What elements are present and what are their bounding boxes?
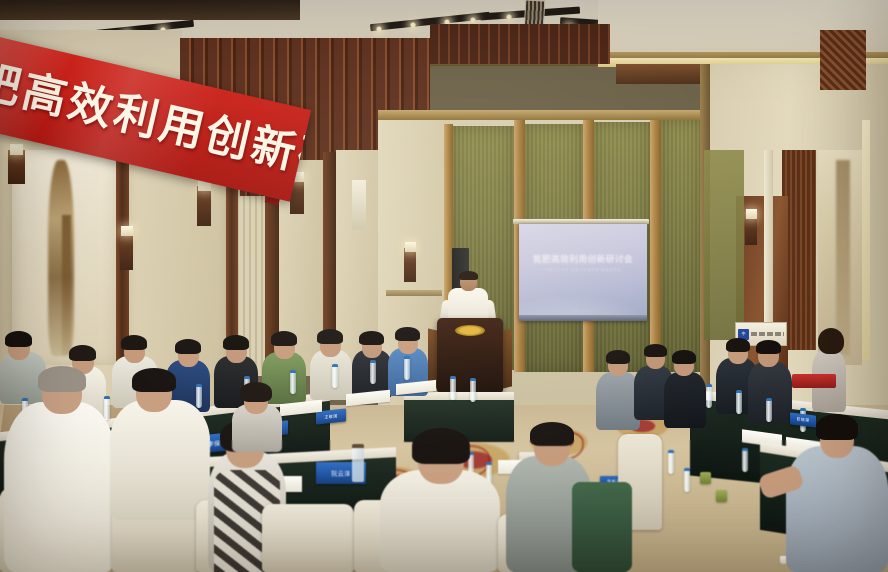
attendee-hair [395, 327, 420, 341]
attendee-bag [572, 482, 632, 572]
screen-footer: 2017 年 8 月 [519, 308, 647, 313]
wall-sconce-lamp [121, 226, 133, 236]
screen-title: 氮肥高效利用创新研讨会 [519, 253, 647, 265]
wall-sign-logo-text: 中 [742, 331, 746, 337]
projection-screen: 氮肥高效利用创新研讨会 中国农业大学 资源与环境学院 植物营养系 2017 年 … [519, 224, 647, 321]
nameplate-text: 巨晓棠 [796, 416, 809, 424]
water-bottle [450, 376, 456, 400]
water-bottle [332, 364, 338, 388]
attendee-hair-foreground [530, 422, 574, 446]
attendee-hair-foreground [412, 428, 470, 464]
attendee-hair [271, 331, 297, 346]
screen-subtitle: 中国农业大学 资源与环境学院 植物营养系 [519, 268, 647, 273]
attendee-hair [175, 339, 201, 354]
olive-fabric-panel [661, 120, 703, 372]
attendee-hair [121, 335, 147, 350]
attendee-hair-foreground [816, 414, 858, 440]
ceiling-dark-band [0, 0, 300, 20]
water-bottle [104, 396, 110, 420]
attendee-hair [644, 344, 667, 357]
wall-chair-rail [386, 290, 442, 296]
tea-glass [716, 490, 727, 502]
water-bottle [404, 356, 410, 380]
red-folder [792, 374, 836, 388]
wall-sconce-backplate [120, 232, 133, 270]
ceiling-downlight [410, 22, 416, 28]
wall-sconce-backplate [745, 215, 757, 245]
attendee-hair [672, 350, 696, 364]
ceiling-downlight [470, 17, 476, 23]
attendee-hair-foreground [132, 368, 176, 392]
conference-room-photo: 氮肥高效利用创新研讨会 中国农业大学 资源与环境学院 植物营养系 2017 年 … [0, 0, 888, 572]
marble-vein [836, 160, 850, 355]
water-bottle [736, 390, 742, 414]
tea-glass [700, 472, 711, 484]
nameplate-text: 阮云泽 [331, 469, 350, 478]
chair [262, 504, 354, 572]
wall-sconce-backplate [404, 248, 416, 282]
wood-slat-wall-upper [430, 24, 610, 64]
wall-sconce-backplate [197, 186, 211, 226]
water-bottle [196, 384, 202, 408]
ceiling-downlight [376, 26, 382, 32]
attendee-torso-foreground [110, 400, 210, 520]
attendee-hair [5, 331, 32, 347]
wall-sign-text-lines [751, 332, 784, 336]
water-bottle [742, 448, 748, 472]
speaker-hair [459, 271, 478, 280]
ceiling-downlight [506, 14, 512, 20]
nameplate-text: 王敬国 [324, 413, 337, 420]
wood-lattice-upper [820, 30, 866, 90]
back-wall-cornice [378, 110, 708, 120]
water-bottle [684, 468, 690, 492]
attendee-hair [317, 329, 343, 344]
attendee-torso [310, 350, 352, 400]
wall-sconce-lamp [405, 242, 416, 252]
attendee-torso-foreground [786, 446, 888, 572]
attendee-torso [664, 372, 706, 428]
water-bottle [668, 450, 674, 474]
wood-divider [650, 116, 661, 372]
water-bottle [290, 370, 296, 394]
olive-fabric-panel-right [704, 150, 744, 340]
cove-light-strip-right [862, 120, 870, 360]
wall-sconce-backplate [8, 150, 25, 184]
podium-emblem [455, 325, 485, 336]
attendee-hair [606, 350, 630, 364]
wall-sconce-lamp [10, 144, 23, 155]
attendee-torso-foreground [380, 470, 500, 572]
attendee-hair [69, 345, 96, 361]
wall-sconce-lamp [746, 209, 757, 219]
attendee-hair [359, 331, 384, 345]
water-bottle [706, 384, 712, 408]
projection-screen-weight-bar [519, 315, 647, 321]
attendee-torso-foreground [4, 402, 116, 572]
attendee-hair [223, 335, 249, 350]
water-bottle [766, 398, 772, 422]
attendee-hair [726, 338, 750, 352]
water-bottle [470, 378, 476, 402]
standing-attendee-hair [818, 328, 844, 354]
water-bottle [370, 360, 376, 384]
attendee-hair [756, 340, 781, 354]
marble-vein [62, 215, 71, 355]
thermos-bottle [352, 444, 364, 482]
attendee-hair-foreground [38, 366, 86, 392]
attendee-hair [240, 382, 272, 402]
wall-artwork [352, 180, 366, 230]
